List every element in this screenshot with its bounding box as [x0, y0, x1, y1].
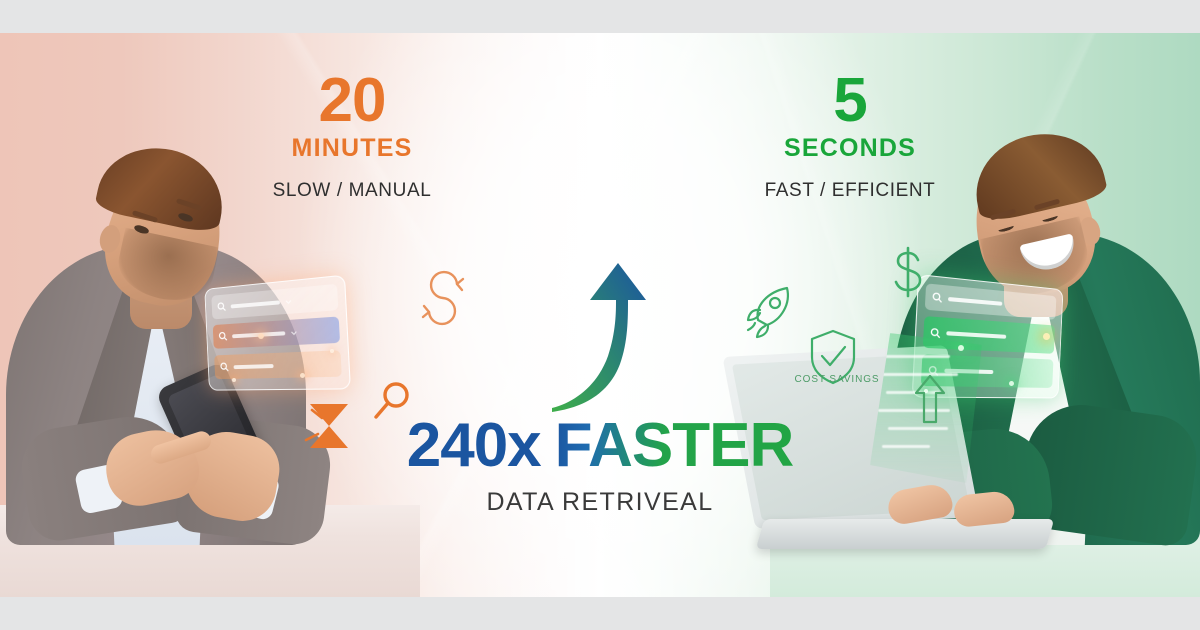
magnifier-icon [931, 291, 943, 303]
sparkle [1009, 381, 1014, 386]
magnifier-icon [220, 362, 230, 373]
search-text-placeholder [948, 296, 1002, 305]
cost-savings-label: COST SAVINGS [777, 374, 897, 385]
slow-number: 20 [252, 72, 452, 131]
letterbox-band-top [0, 0, 1200, 33]
upward-growth-arrow-icon [546, 256, 668, 416]
magnifier-icon [218, 331, 228, 342]
search-text-placeholder [234, 364, 274, 369]
faster-text: FASTER [555, 411, 794, 480]
sparkle [1043, 333, 1050, 340]
slow-unit: MINUTES [252, 134, 452, 163]
infographic-canvas: COST SAVINGS 20 MINUTES SLOW / MANUAL 5 … [0, 0, 1200, 630]
sparkle [958, 345, 964, 351]
fast-unit: SECONDS [750, 134, 950, 163]
search-text-placeholder [946, 331, 1006, 339]
sparkle [300, 373, 305, 378]
search-row [213, 316, 340, 348]
search-row [214, 350, 342, 379]
fast-number: 5 [750, 72, 950, 131]
refresh-sync-icon [417, 270, 477, 332]
rocket-icon [741, 282, 803, 340]
magnifier-icon [217, 301, 227, 312]
stat-block-fast: 5 SECONDS FAST / EFFICIENT [750, 72, 950, 202]
multiplier-text: 240x [407, 411, 541, 480]
up-arrow-icon [913, 372, 947, 426]
sparkle [258, 333, 264, 339]
artwork-area: COST SAVINGS 20 MINUTES SLOW / MANUAL 5 … [0, 33, 1200, 597]
dollar-sign-icon [889, 246, 931, 302]
letterbox-band-bottom [0, 597, 1200, 630]
magnifier-icon [930, 326, 942, 338]
slow-description: SLOW / MANUAL [252, 180, 452, 202]
fast-description: FAST / EFFICIENT [750, 180, 950, 202]
chevron-down-icon [290, 328, 298, 337]
search-row [925, 283, 1057, 319]
headline-subtitle: DATA RETRIVEAL [310, 488, 890, 517]
headline-block: 240xFASTER DATA RETRIVEAL [310, 415, 890, 517]
sparkle [330, 349, 334, 353]
sparkle [232, 378, 236, 382]
stat-block-slow: 20 MINUTES SLOW / MANUAL [252, 72, 452, 202]
right-hand-b [952, 490, 1015, 528]
search-text-placeholder [231, 300, 280, 308]
hologram-search-panel-slow [204, 275, 351, 391]
chevron-down-icon [284, 297, 292, 306]
search-row [211, 284, 338, 320]
headline-main: 240xFASTER [310, 415, 890, 477]
